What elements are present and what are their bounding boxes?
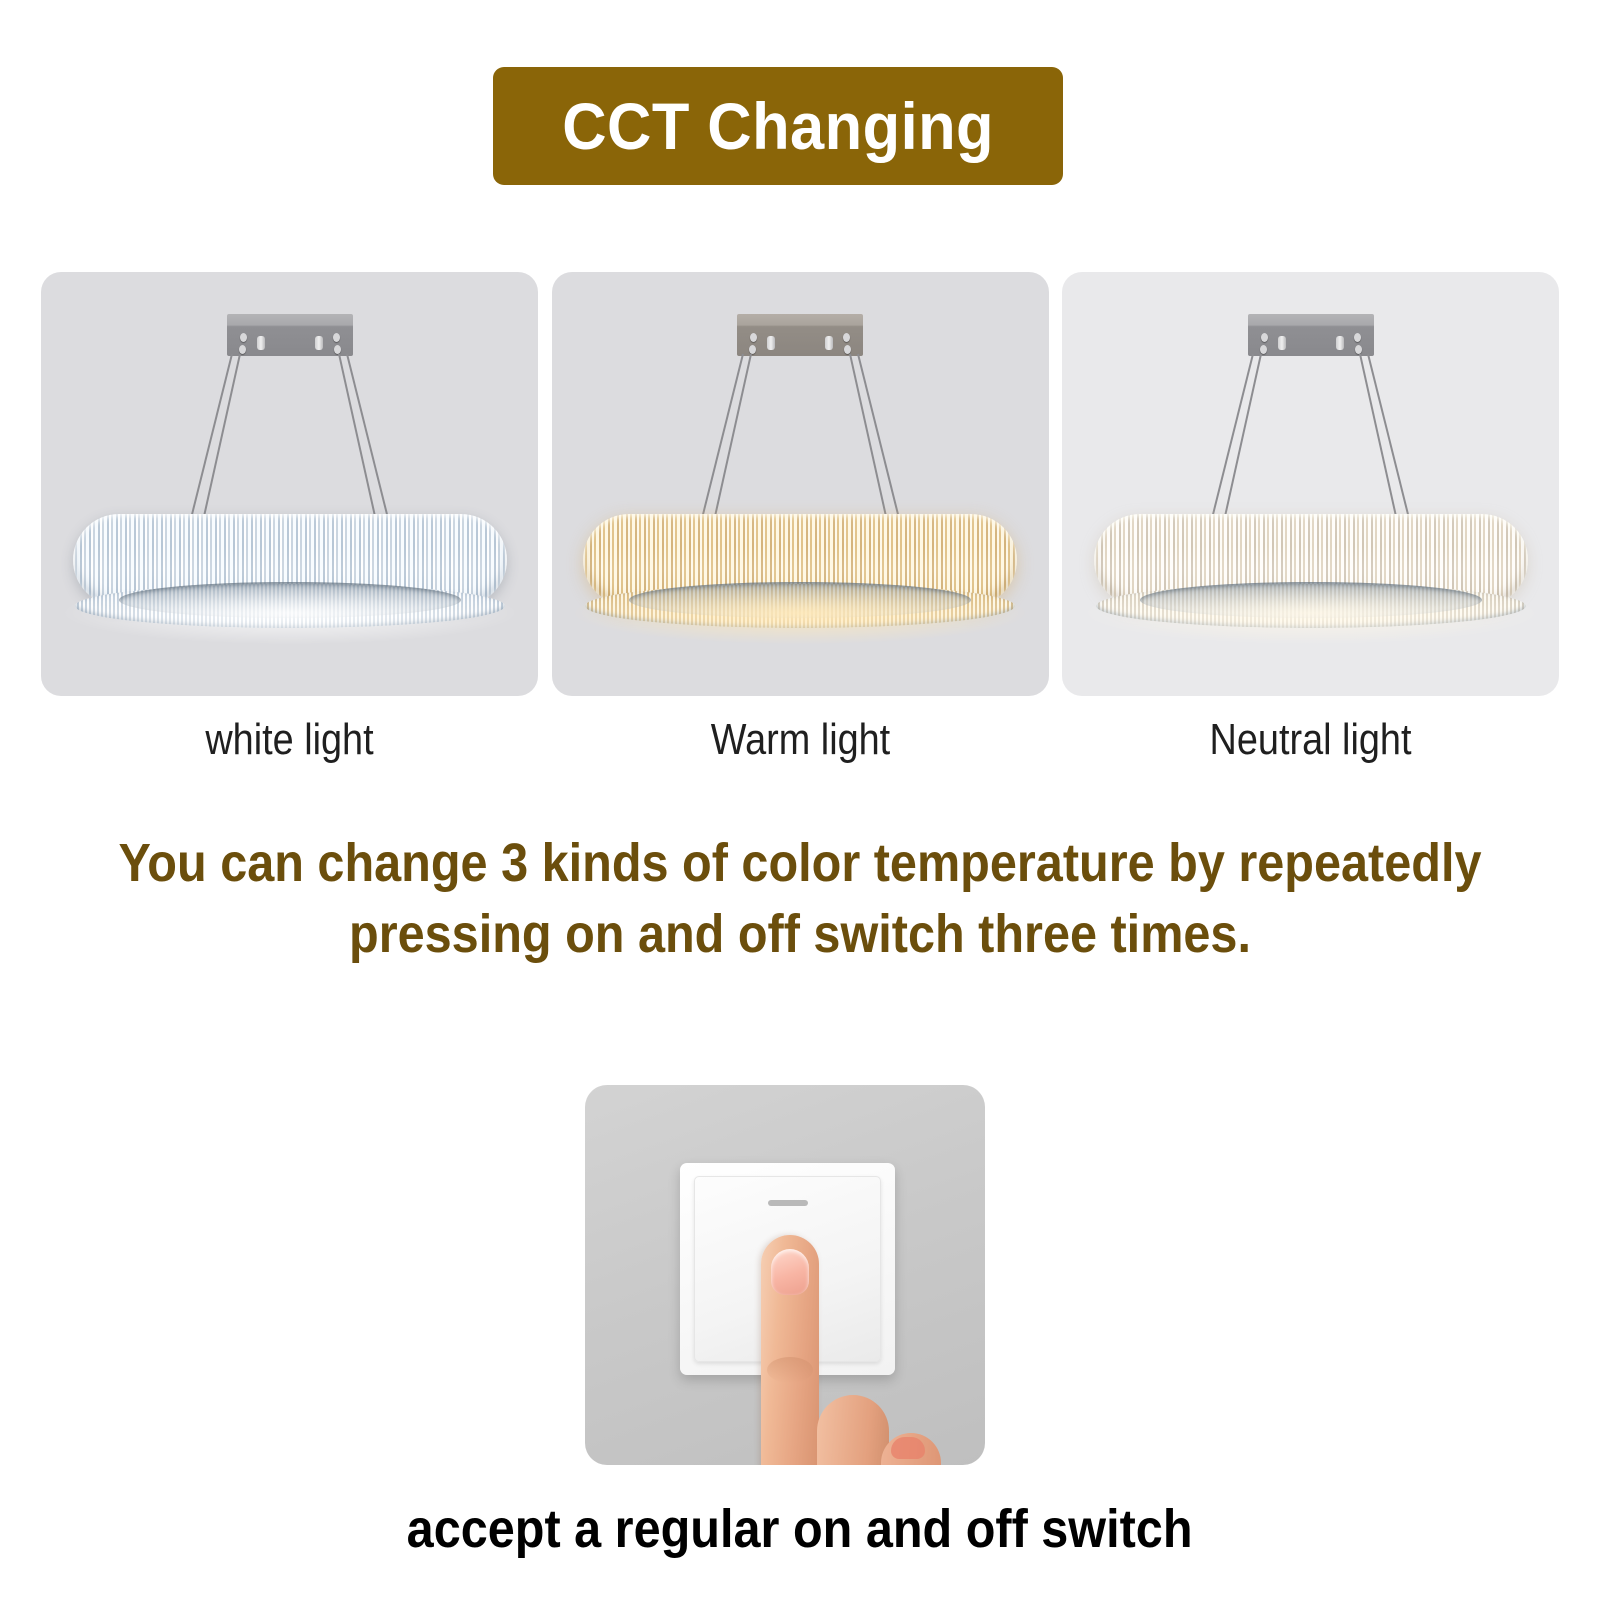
canopy-screw-icon (1354, 333, 1361, 342)
header-title: CCT Changing (562, 93, 994, 159)
canopy-screw-icon (749, 345, 756, 354)
canopy-screw-icon (844, 345, 851, 354)
switch-caption: accept a regular on and off switch (0, 1498, 1600, 1560)
crystal-ring-inner (1140, 582, 1482, 618)
caption-warm-light: Warm light (586, 712, 1013, 774)
pointing-finger-icon (761, 1235, 819, 1465)
crystal-ring (73, 514, 507, 634)
canopy-nut-icon (1336, 336, 1344, 350)
infographic-page: CCT Changing (0, 0, 1600, 1600)
canopy-screw-icon (333, 333, 340, 342)
canopy-screw-icon (750, 333, 757, 342)
ceiling-canopy-icon (227, 314, 353, 356)
switch-caption-text: accept a regular on and off switch (407, 1498, 1193, 1560)
knuckle-shading (767, 1357, 813, 1383)
description-text: You can change 3 kinds of color temperat… (40, 828, 1560, 971)
ceiling-canopy-icon (737, 314, 863, 356)
canopy-screw-icon (239, 345, 246, 354)
ceiling-canopy-icon (1248, 314, 1374, 356)
wall-switch-image (585, 1085, 985, 1465)
caption-white-light: white light (76, 712, 503, 774)
fingernail-icon (771, 1249, 809, 1295)
crystal-ring (1094, 514, 1528, 634)
canopy-nut-icon (315, 336, 323, 350)
crystal-ring-inner (119, 582, 461, 618)
header-banner: CCT Changing (493, 67, 1063, 185)
light-mode-captions: white light Warm light Neutral light (41, 712, 1559, 774)
canopy-screw-icon (843, 333, 850, 342)
caption-neutral-light: Neutral light (1097, 712, 1524, 774)
canopy-nut-icon (825, 336, 833, 350)
light-panel-warm (552, 272, 1049, 696)
canopy-nut-icon (257, 336, 265, 350)
switch-indicator-icon (768, 1200, 808, 1206)
canopy-nut-icon (1278, 336, 1286, 350)
canopy-nut-icon (767, 336, 775, 350)
second-finger-icon (817, 1395, 889, 1465)
canopy-screw-icon (1261, 333, 1268, 342)
light-mode-panels (41, 272, 1559, 696)
crystal-ring (583, 514, 1017, 634)
canopy-screw-icon (1260, 345, 1267, 354)
light-panel-neutral (1062, 272, 1559, 696)
light-panel-white (41, 272, 538, 696)
canopy-screw-icon (240, 333, 247, 342)
third-finger-icon (881, 1433, 941, 1465)
crystal-ring-inner (629, 582, 971, 618)
description-line-2: pressing on and off switch three times. (116, 899, 1484, 970)
description-line-1: You can change 3 kinds of color temperat… (116, 828, 1484, 899)
